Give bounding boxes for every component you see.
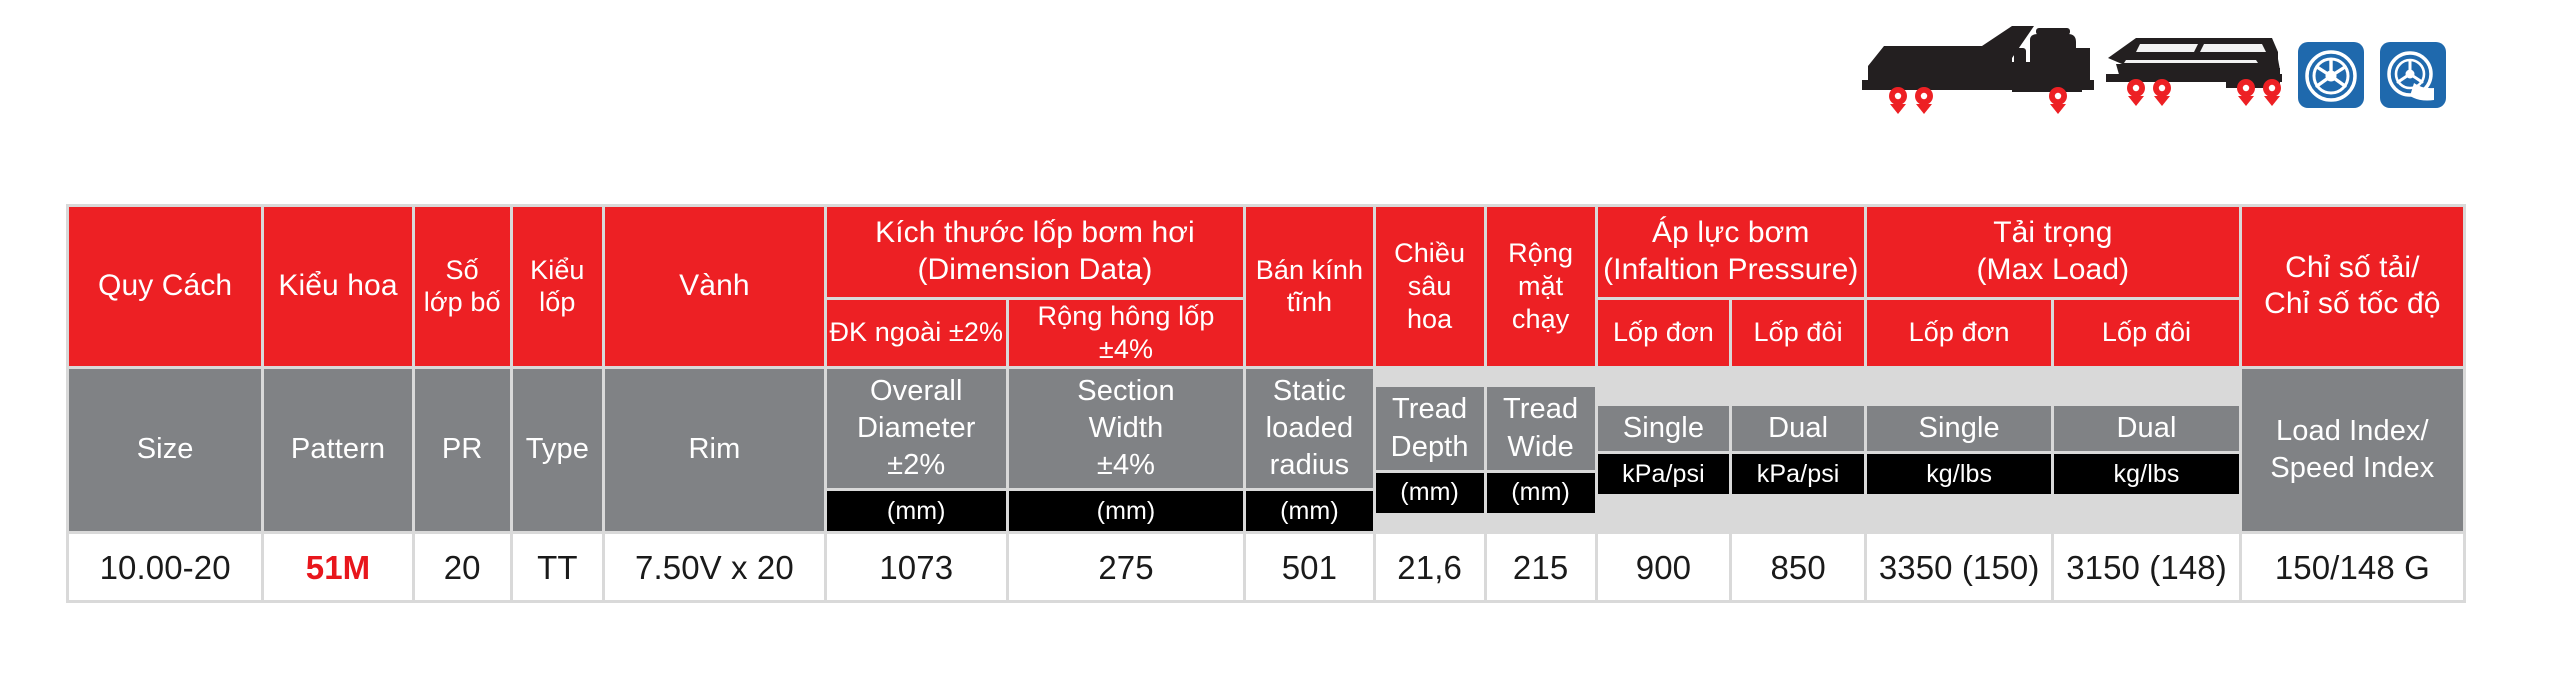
header-static-radius-en: Static loaded radius: [1246, 369, 1372, 488]
cell-pattern: 51M: [264, 534, 411, 600]
spec-table: Quy Cách Kiểu hoa Số lớp bố Kiểu lốp Vàn…: [66, 204, 2466, 603]
cell-load-single: 3350 (150): [1867, 534, 2051, 600]
lowboy-trailer-truck-icon: [2106, 18, 2282, 114]
cell-index: 150/148 G: [2242, 534, 2463, 600]
header-tread-wide-en: Tread Wide: [1487, 387, 1595, 469]
header-overall-diameter-en-cell: Overall Diameter ±2% (mm): [827, 369, 1006, 531]
header-section-width-en-cell: Section Width ±4% (mm): [1009, 369, 1243, 531]
header-dimension-group-vi: Kích thước lốp bơm hơi (Dimension Data): [827, 207, 1244, 297]
header-pressure-single-en: Single: [1598, 406, 1730, 451]
header-tread-depth-en-cell: Tread Depth (mm): [1376, 369, 1484, 531]
header-row-english: Size Pattern PR Type Rim Overall Diamete…: [69, 369, 2463, 531]
header-pressure-dual-en: Dual: [1732, 406, 1864, 451]
header-static-radius-en-cell: Static loaded radius (mm): [1246, 369, 1372, 531]
header-section-width-vi: Rộng hông lốp ±4%: [1009, 300, 1243, 366]
header-pressure-single-en-cell: Single kPa/psi: [1598, 369, 1730, 531]
header-rim-vi: Vành: [605, 207, 824, 366]
unit-tread-wide: (mm): [1487, 473, 1595, 513]
header-load-single-vi: Lốp đơn: [1867, 300, 2051, 366]
cell-pressure-dual: 850: [1732, 534, 1864, 600]
unit-load-dual: kg/lbs: [2054, 454, 2238, 494]
unit-tread-depth: (mm): [1376, 473, 1484, 513]
header-pressure-single-vi: Lốp đơn: [1598, 300, 1730, 366]
unit-load-single: kg/lbs: [1867, 454, 2051, 494]
unit-pressure-dual: kPa/psi: [1732, 454, 1864, 494]
cell-pressure-single: 900: [1598, 534, 1730, 600]
unit-static-radius: (mm): [1246, 491, 1372, 531]
wheel-tyre-badge-icon: [2380, 42, 2446, 108]
unit-pressure-single: kPa/psi: [1598, 454, 1730, 494]
header-static-radius-vi: Bán kính tĩnh: [1246, 207, 1372, 366]
header-type-en: Type: [513, 369, 603, 531]
cell-rim: 7.50V x 20: [605, 534, 824, 600]
cell-tread-wide: 215: [1487, 534, 1595, 600]
header-load-dual-en-cell: Dual kg/lbs: [2054, 369, 2238, 531]
header-pattern-en: Pattern: [264, 369, 411, 531]
cell-size: 10.00-20: [69, 534, 261, 600]
header-graphics-strip: [0, 0, 2550, 118]
dump-truck-icon: [1862, 18, 2102, 114]
header-overall-diameter-en: Overall Diameter ±2%: [827, 369, 1006, 488]
cell-pr: 20: [415, 534, 510, 600]
header-row-vietnamese: Quy Cách Kiểu hoa Số lớp bố Kiểu lốp Vàn…: [69, 207, 2463, 297]
header-index-vi: Chỉ số tải/ Chỉ số tốc độ: [2242, 207, 2463, 366]
header-pressure-group-vi: Áp lực bơm (Infaltion Pressure): [1598, 207, 1864, 297]
header-tread-depth-en: Tread Depth: [1376, 387, 1484, 469]
cell-static-radius: 501: [1246, 534, 1372, 600]
unit-overall-diameter: (mm): [827, 491, 1006, 531]
cell-overall-diameter: 1073: [827, 534, 1006, 600]
header-size-en: Size: [69, 369, 261, 531]
header-load-dual-vi: Lốp đôi: [2054, 300, 2238, 366]
header-pressure-dual-vi: Lốp đôi: [1732, 300, 1864, 366]
header-tread-wide-vi: Rộng mặt chạy: [1487, 207, 1595, 366]
header-tread-depth-vi: Chiều sâu hoa: [1376, 207, 1484, 366]
header-tread-wide-en-cell: Tread Wide (mm): [1487, 369, 1595, 531]
header-pattern-vi: Kiểu hoa: [264, 207, 411, 366]
header-type-vi: Kiểu lốp: [513, 207, 603, 366]
vehicle-illustrations: [1862, 18, 2282, 114]
header-load-single-en-cell: Single kg/lbs: [1867, 369, 2051, 531]
table-row: 10.00-20 51M 20 TT 7.50V x 20 1073 275 5…: [69, 534, 2463, 600]
header-load-dual-en: Dual: [2054, 406, 2238, 451]
header-index-en: Load Index/ Speed Index: [2242, 369, 2463, 531]
header-load-single-en: Single: [1867, 406, 2051, 451]
wheel-rim-badge-icon: [2298, 42, 2364, 108]
cell-tread-depth: 21,6: [1376, 534, 1484, 600]
badge-icon-group: [2298, 42, 2466, 108]
header-size-vi: Quy Cách: [69, 207, 261, 366]
cell-section-width: 275: [1009, 534, 1243, 600]
header-pr-en: PR: [415, 369, 510, 531]
header-section-width-en: Section Width ±4%: [1009, 369, 1243, 488]
header-pr-vi: Số lớp bố: [415, 207, 510, 366]
header-rim-en: Rim: [605, 369, 824, 531]
header-load-group-vi: Tải trọng (Max Load): [1867, 207, 2239, 297]
tyre-specification-table: Quy Cách Kiểu hoa Số lớp bố Kiểu lốp Vàn…: [66, 204, 2466, 603]
header-pressure-dual-en-cell: Dual kPa/psi: [1732, 369, 1864, 531]
header-overall-diameter-vi: ĐK ngoài ±2%: [827, 300, 1006, 366]
cell-type: TT: [513, 534, 603, 600]
cell-load-dual: 3150 (148): [2054, 534, 2238, 600]
unit-section-width: (mm): [1009, 491, 1243, 531]
